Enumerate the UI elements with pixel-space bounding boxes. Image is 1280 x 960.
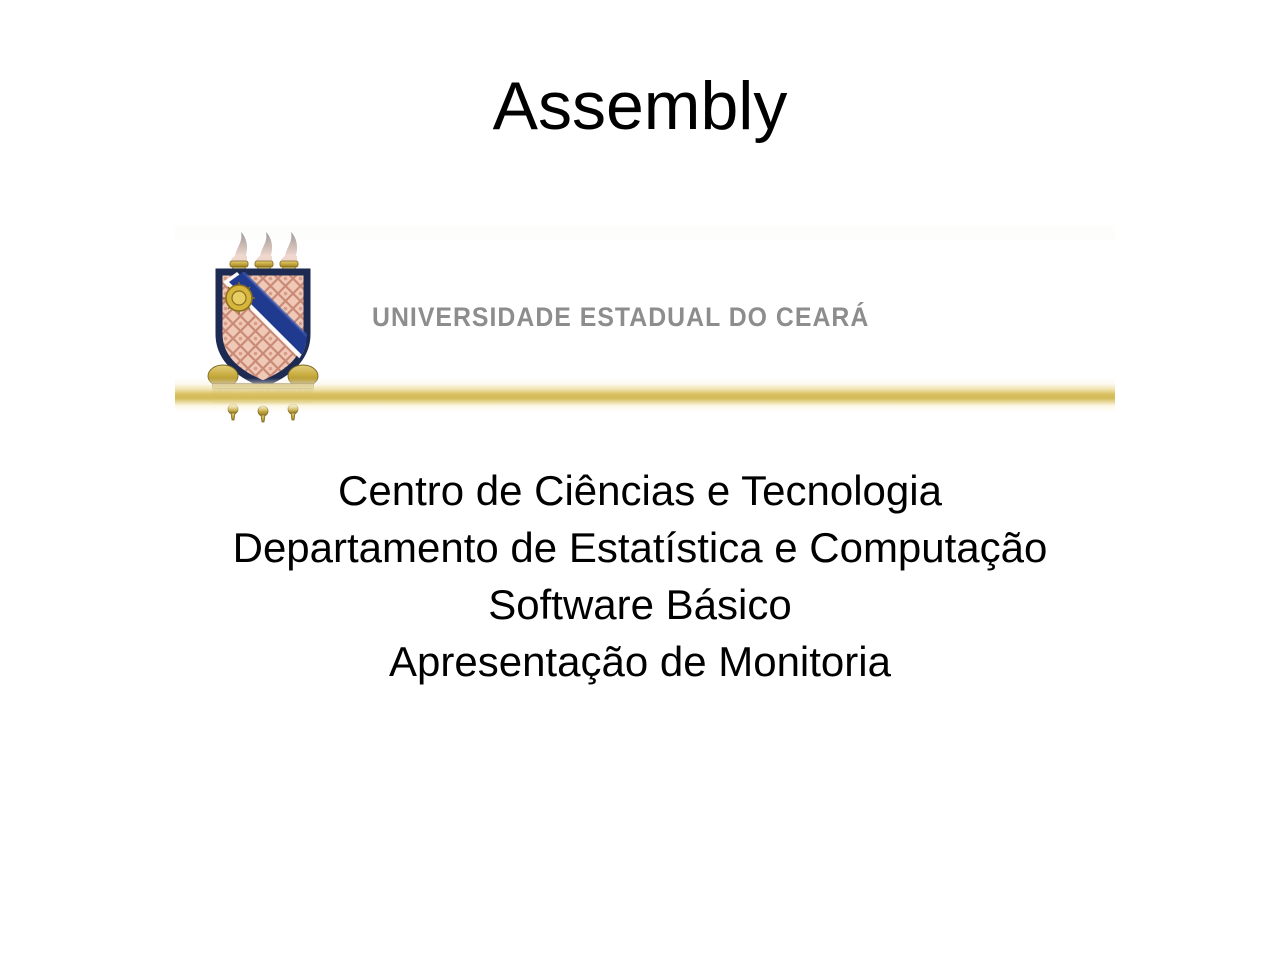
- gold-separator-bar: [175, 378, 1115, 412]
- slide-title: Assembly: [0, 72, 1280, 140]
- university-logo-block: LUMEN AD VIAM UNIVERSIDADE ESTADUAL DO C…: [175, 226, 1115, 428]
- subtitle-line: Centro de Ciências e Tecnologia: [0, 462, 1280, 519]
- subtitle-line: Departamento de Estatística e Computação: [0, 519, 1280, 576]
- subtitle-line: Software Básico: [0, 576, 1280, 633]
- presentation-slide: Assembly: [0, 0, 1280, 960]
- university-wordmark: UNIVERSIDADE ESTADUAL DO CEARÁ: [372, 302, 860, 333]
- subtitle-line: Apresentação de Monitoria: [0, 633, 1280, 690]
- subtitle-block: Centro de Ciências e Tecnologia Departam…: [0, 462, 1280, 690]
